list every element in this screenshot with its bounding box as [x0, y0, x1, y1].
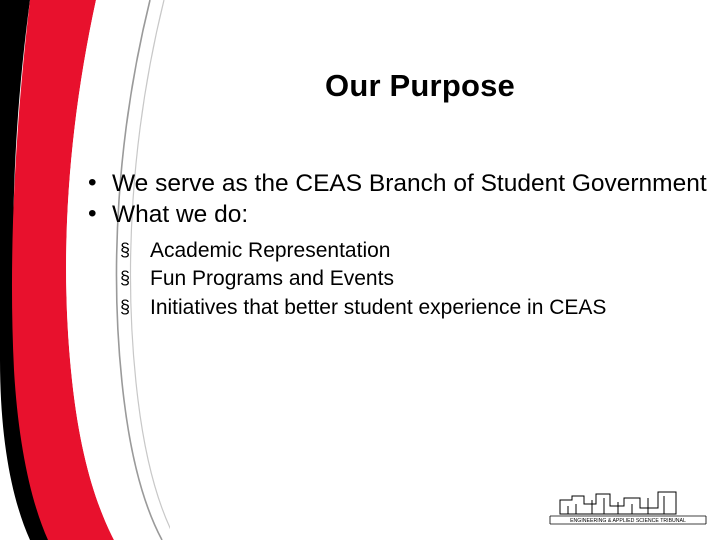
list-item: • We serve as the CEAS Branch of Student…	[78, 168, 710, 199]
logo-caption: ENGINEERING & APPLIED SCIENCE TRIBUNAL	[570, 518, 686, 524]
subbullet-text: Fun Programs and Events	[150, 267, 394, 290]
bullet-text: What we do:	[112, 201, 248, 228]
list-item: • What we do:	[78, 199, 710, 230]
bullet-list-level1: • We serve as the CEAS Branch of Student…	[78, 168, 710, 231]
list-item: § Fun Programs and Events	[78, 265, 710, 293]
organization-logo: ENGINEERING & APPLIED SCIENCE TRIBUNAL	[548, 484, 708, 532]
slide-title: Our Purpose	[150, 68, 690, 104]
section-marker-icon: §	[120, 237, 130, 264]
slide-body: • We serve as the CEAS Branch of Student…	[78, 168, 710, 323]
subbullet-text: Initiatives that better student experien…	[150, 296, 606, 319]
bullet-text: We serve as the CEAS Branch of Student G…	[112, 170, 707, 197]
section-marker-icon: §	[120, 294, 130, 321]
list-item: § Initiatives that better student experi…	[78, 294, 710, 322]
bullet-list-level2: § Academic Representation § Fun Programs…	[78, 237, 710, 322]
section-marker-icon: §	[120, 265, 130, 292]
bullet-marker-icon: •	[88, 167, 97, 198]
list-item: § Academic Representation	[78, 237, 710, 265]
subbullet-text: Academic Representation	[150, 239, 390, 262]
slide: Our Purpose • We serve as the CEAS Branc…	[0, 0, 720, 540]
bullet-marker-icon: •	[88, 198, 97, 229]
